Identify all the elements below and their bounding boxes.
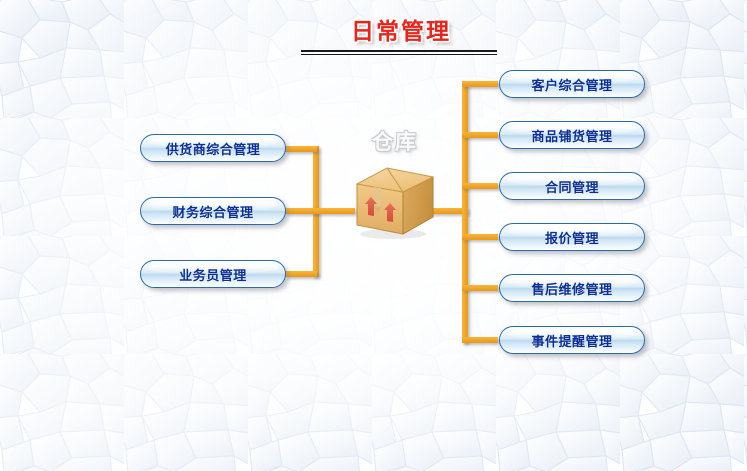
node-quotation-management[interactable]: 报价管理 [499,223,645,251]
left-branch-line-3 [285,271,317,277]
node-label: 财务综合管理 [172,202,253,221]
node-label: 合同管理 [545,177,599,196]
node-supplier-management[interactable]: 供货商综合管理 [140,134,286,162]
right-branch-line-4 [462,234,498,240]
node-label: 事件提醒管理 [531,331,612,350]
page-title: 日常管理 [296,17,506,47]
center-warehouse-group: 仓库 [340,122,450,242]
title-divider [301,50,497,55]
node-label: 报价管理 [545,228,599,247]
right-bracket-spine [462,81,468,343]
node-event-reminder-management[interactable]: 事件提醒管理 [499,326,645,354]
node-contract-management[interactable]: 合同管理 [499,172,645,200]
node-label: 客户综合管理 [531,75,612,94]
node-product-distribution-management[interactable]: 商品铺货管理 [499,121,645,149]
right-branch-line-1 [462,81,498,87]
cardboard-box-icon [353,162,437,240]
node-salesperson-management[interactable]: 业务员管理 [140,260,286,288]
node-label: 售后维修管理 [531,279,612,298]
node-label: 供货商综合管理 [166,139,261,158]
diagram-canvas: 日常管理 仓库 [0,0,747,471]
page-title-text: 日常管理 [351,19,451,45]
right-branch-line-6 [462,337,498,343]
center-warehouse-label: 仓库 [340,126,450,156]
right-branch-line-3 [462,183,498,189]
right-branch-line-2 [462,132,498,138]
node-after-sales-repair-management[interactable]: 售后维修管理 [499,274,645,302]
node-finance-management[interactable]: 财务综合管理 [140,197,286,225]
node-label: 业务员管理 [179,265,247,284]
right-branch-line-5 [462,285,498,291]
left-branch-line-1 [285,146,317,152]
node-label: 商品铺货管理 [531,126,612,145]
node-customer-management[interactable]: 客户综合管理 [499,70,645,98]
